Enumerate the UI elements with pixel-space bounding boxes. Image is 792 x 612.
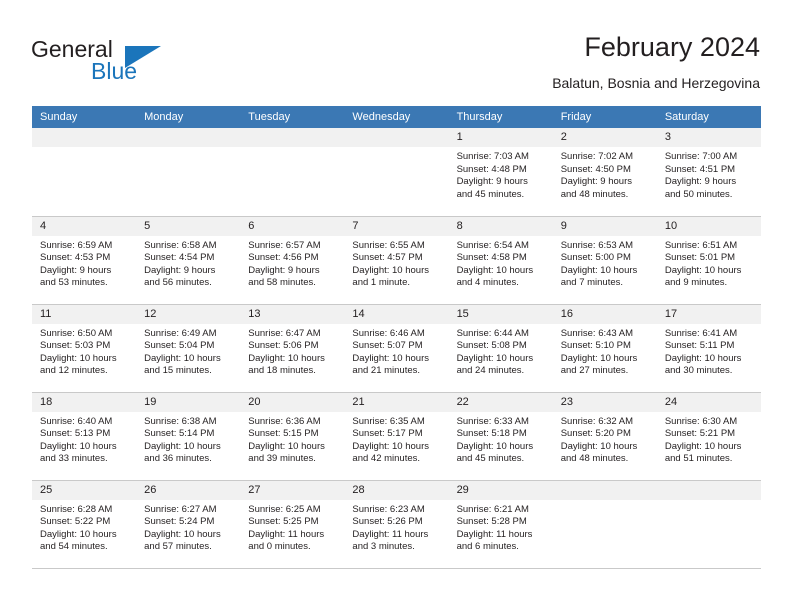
sunset-text: Sunset: 5:17 PM	[352, 428, 442, 441]
calendar-day-cell[interactable]: 17Sunrise: 6:41 AMSunset: 5:11 PMDayligh…	[657, 304, 761, 392]
day-number: 7	[344, 217, 448, 236]
daylight-text-line1: Daylight: 10 hours	[561, 265, 651, 278]
daylight-text-line2: and 54 minutes.	[40, 541, 130, 554]
sunset-text: Sunset: 5:10 PM	[561, 340, 651, 353]
day-number	[32, 128, 136, 147]
day-number: 12	[136, 305, 240, 324]
sunset-text: Sunset: 5:04 PM	[144, 340, 234, 353]
sunset-text: Sunset: 5:28 PM	[457, 516, 547, 529]
day-number	[344, 128, 448, 147]
day-details: Sunrise: 6:46 AMSunset: 5:07 PMDaylight:…	[344, 324, 448, 378]
day-details: Sunrise: 6:59 AMSunset: 4:53 PMDaylight:…	[32, 236, 136, 290]
day-number	[136, 128, 240, 147]
day-details: Sunrise: 6:25 AMSunset: 5:25 PMDaylight:…	[240, 500, 344, 554]
day-details: Sunrise: 6:54 AMSunset: 4:58 PMDaylight:…	[449, 236, 553, 290]
day-number: 29	[449, 481, 553, 500]
day-details: Sunrise: 6:33 AMSunset: 5:18 PMDaylight:…	[449, 412, 553, 466]
day-number: 17	[657, 305, 761, 324]
daylight-text-line1: Daylight: 10 hours	[144, 441, 234, 454]
sunrise-text: Sunrise: 6:32 AM	[561, 416, 651, 429]
day-details: Sunrise: 6:21 AMSunset: 5:28 PMDaylight:…	[449, 500, 553, 554]
daylight-text-line2: and 33 minutes.	[40, 453, 130, 466]
daylight-text-line2: and 58 minutes.	[248, 277, 338, 290]
calendar-day-cell[interactable]: 19Sunrise: 6:38 AMSunset: 5:14 PMDayligh…	[136, 392, 240, 480]
weekday-header-row: Sunday Monday Tuesday Wednesday Thursday…	[32, 106, 761, 128]
daylight-text-line2: and 53 minutes.	[40, 277, 130, 290]
daylight-text-line2: and 36 minutes.	[144, 453, 234, 466]
sunset-text: Sunset: 5:26 PM	[352, 516, 442, 529]
title-block: February 2024 Balatun, Bosnia and Herzeg…	[552, 30, 760, 92]
day-details: Sunrise: 6:32 AMSunset: 5:20 PMDaylight:…	[553, 412, 657, 466]
calendar-day-cell[interactable]: 11Sunrise: 6:50 AMSunset: 5:03 PMDayligh…	[32, 304, 136, 392]
daylight-text-line2: and 7 minutes.	[561, 277, 651, 290]
day-details: Sunrise: 6:44 AMSunset: 5:08 PMDaylight:…	[449, 324, 553, 378]
page-header: General Blue February 2024 Balatun, Bosn…	[0, 0, 792, 100]
calendar-day-cell[interactable]: 3Sunrise: 7:00 AMSunset: 4:51 PMDaylight…	[657, 128, 761, 216]
calendar-week-row: 11Sunrise: 6:50 AMSunset: 5:03 PMDayligh…	[32, 304, 761, 392]
day-details: Sunrise: 6:58 AMSunset: 4:54 PMDaylight:…	[136, 236, 240, 290]
sunset-text: Sunset: 4:56 PM	[248, 252, 338, 265]
day-number: 28	[344, 481, 448, 500]
daylight-text-line2: and 9 minutes.	[665, 277, 755, 290]
daylight-text-line2: and 6 minutes.	[457, 541, 547, 554]
sunrise-text: Sunrise: 6:47 AM	[248, 328, 338, 341]
day-number: 27	[240, 481, 344, 500]
day-number: 21	[344, 393, 448, 412]
day-details: Sunrise: 7:03 AMSunset: 4:48 PMDaylight:…	[449, 147, 553, 201]
sunset-text: Sunset: 4:58 PM	[457, 252, 547, 265]
calendar-day-cell[interactable]: 6Sunrise: 6:57 AMSunset: 4:56 PMDaylight…	[240, 216, 344, 304]
day-details: Sunrise: 6:51 AMSunset: 5:01 PMDaylight:…	[657, 236, 761, 290]
sunrise-text: Sunrise: 6:30 AM	[665, 416, 755, 429]
day-number: 18	[32, 393, 136, 412]
daylight-text-line1: Daylight: 10 hours	[40, 353, 130, 366]
day-number	[240, 128, 344, 147]
day-details: Sunrise: 7:00 AMSunset: 4:51 PMDaylight:…	[657, 147, 761, 201]
day-number: 23	[553, 393, 657, 412]
daylight-text-line2: and 57 minutes.	[144, 541, 234, 554]
calendar-day-cell[interactable]: 22Sunrise: 6:33 AMSunset: 5:18 PMDayligh…	[449, 392, 553, 480]
daylight-text-line2: and 30 minutes.	[665, 365, 755, 378]
daylight-text-line1: Daylight: 9 hours	[144, 265, 234, 278]
day-details: Sunrise: 6:47 AMSunset: 5:06 PMDaylight:…	[240, 324, 344, 378]
sunrise-text: Sunrise: 6:25 AM	[248, 504, 338, 517]
day-details: Sunrise: 7:02 AMSunset: 4:50 PMDaylight:…	[553, 147, 657, 201]
sunset-text: Sunset: 4:48 PM	[457, 164, 547, 177]
sunrise-text: Sunrise: 6:38 AM	[144, 416, 234, 429]
day-details: Sunrise: 6:50 AMSunset: 5:03 PMDaylight:…	[32, 324, 136, 378]
day-number: 11	[32, 305, 136, 324]
daylight-text-line2: and 39 minutes.	[248, 453, 338, 466]
sunset-text: Sunset: 5:00 PM	[561, 252, 651, 265]
daylight-text-line1: Daylight: 10 hours	[352, 353, 442, 366]
sunset-text: Sunset: 5:18 PM	[457, 428, 547, 441]
sunrise-text: Sunrise: 6:51 AM	[665, 240, 755, 253]
calendar-day-cell[interactable]: 24Sunrise: 6:30 AMSunset: 5:21 PMDayligh…	[657, 392, 761, 480]
daylight-text-line1: Daylight: 10 hours	[665, 441, 755, 454]
daylight-text-line2: and 50 minutes.	[665, 189, 755, 202]
daylight-text-line1: Daylight: 9 hours	[665, 176, 755, 189]
calendar-cell-empty	[553, 480, 657, 568]
calendar-day-cell[interactable]: 2Sunrise: 7:02 AMSunset: 4:50 PMDaylight…	[553, 128, 657, 216]
daylight-text-line2: and 45 minutes.	[457, 189, 547, 202]
calendar-day-cell[interactable]: 13Sunrise: 6:47 AMSunset: 5:06 PMDayligh…	[240, 304, 344, 392]
daylight-text-line2: and 48 minutes.	[561, 189, 651, 202]
weekday-header-sunday: Sunday	[32, 106, 136, 128]
day-number: 6	[240, 217, 344, 236]
calendar-day-cell[interactable]: 21Sunrise: 6:35 AMSunset: 5:17 PMDayligh…	[344, 392, 448, 480]
page-subtitle: Balatun, Bosnia and Herzegovina	[552, 74, 760, 92]
sunrise-text: Sunrise: 6:59 AM	[40, 240, 130, 253]
day-details: Sunrise: 6:55 AMSunset: 4:57 PMDaylight:…	[344, 236, 448, 290]
sunrise-text: Sunrise: 6:55 AM	[352, 240, 442, 253]
sunset-text: Sunset: 5:24 PM	[144, 516, 234, 529]
daylight-text-line1: Daylight: 10 hours	[248, 353, 338, 366]
sunset-text: Sunset: 5:07 PM	[352, 340, 442, 353]
calendar-day-cell[interactable]: 7Sunrise: 6:55 AMSunset: 4:57 PMDaylight…	[344, 216, 448, 304]
sunrise-text: Sunrise: 6:35 AM	[352, 416, 442, 429]
day-details: Sunrise: 6:30 AMSunset: 5:21 PMDaylight:…	[657, 412, 761, 466]
day-number: 14	[344, 305, 448, 324]
calendar-day-cell[interactable]: 8Sunrise: 6:54 AMSunset: 4:58 PMDaylight…	[449, 216, 553, 304]
sunset-text: Sunset: 5:22 PM	[40, 516, 130, 529]
sunrise-text: Sunrise: 6:58 AM	[144, 240, 234, 253]
calendar-day-cell[interactable]: 18Sunrise: 6:40 AMSunset: 5:13 PMDayligh…	[32, 392, 136, 480]
sunset-text: Sunset: 5:06 PM	[248, 340, 338, 353]
sunrise-text: Sunrise: 6:40 AM	[40, 416, 130, 429]
daylight-text-line1: Daylight: 10 hours	[561, 441, 651, 454]
day-number: 16	[553, 305, 657, 324]
daylight-text-line1: Daylight: 10 hours	[352, 265, 442, 278]
sunrise-text: Sunrise: 6:44 AM	[457, 328, 547, 341]
sunset-text: Sunset: 5:15 PM	[248, 428, 338, 441]
sunset-text: Sunset: 4:51 PM	[665, 164, 755, 177]
calendar-day-cell[interactable]: 1Sunrise: 7:03 AMSunset: 4:48 PMDaylight…	[449, 128, 553, 216]
calendar-day-cell[interactable]: 10Sunrise: 6:51 AMSunset: 5:01 PMDayligh…	[657, 216, 761, 304]
sunrise-text: Sunrise: 6:41 AM	[665, 328, 755, 341]
day-details: Sunrise: 6:57 AMSunset: 4:56 PMDaylight:…	[240, 236, 344, 290]
day-number: 2	[553, 128, 657, 147]
calendar-day-cell[interactable]: 23Sunrise: 6:32 AMSunset: 5:20 PMDayligh…	[553, 392, 657, 480]
daylight-text-line1: Daylight: 11 hours	[457, 529, 547, 542]
calendar-cell-empty	[136, 128, 240, 216]
sunrise-text: Sunrise: 7:02 AM	[561, 151, 651, 164]
daylight-text-line1: Daylight: 10 hours	[248, 441, 338, 454]
calendar-grid: Sunday Monday Tuesday Wednesday Thursday…	[32, 106, 761, 569]
sunrise-text: Sunrise: 6:57 AM	[248, 240, 338, 253]
sunrise-text: Sunrise: 6:28 AM	[40, 504, 130, 517]
sunset-text: Sunset: 5:14 PM	[144, 428, 234, 441]
calendar-day-cell[interactable]: 15Sunrise: 6:44 AMSunset: 5:08 PMDayligh…	[449, 304, 553, 392]
calendar-day-cell[interactable]: 4Sunrise: 6:59 AMSunset: 4:53 PMDaylight…	[32, 216, 136, 304]
general-blue-logo[interactable]: General Blue	[31, 36, 181, 88]
daylight-text-line2: and 4 minutes.	[457, 277, 547, 290]
sunrise-text: Sunrise: 7:03 AM	[457, 151, 547, 164]
day-details: Sunrise: 6:49 AMSunset: 5:04 PMDaylight:…	[136, 324, 240, 378]
day-number: 5	[136, 217, 240, 236]
sunset-text: Sunset: 5:03 PM	[40, 340, 130, 353]
day-number: 1	[449, 128, 553, 147]
day-number: 20	[240, 393, 344, 412]
calendar-week-row: 18Sunrise: 6:40 AMSunset: 5:13 PMDayligh…	[32, 392, 761, 480]
day-details: Sunrise: 6:27 AMSunset: 5:24 PMDaylight:…	[136, 500, 240, 554]
sunrise-text: Sunrise: 6:49 AM	[144, 328, 234, 341]
weekday-header-friday: Friday	[553, 106, 657, 128]
daylight-text-line1: Daylight: 10 hours	[457, 441, 547, 454]
sunset-text: Sunset: 5:11 PM	[665, 340, 755, 353]
calendar-day-cell[interactable]: 9Sunrise: 6:53 AMSunset: 5:00 PMDaylight…	[553, 216, 657, 304]
daylight-text-line1: Daylight: 10 hours	[352, 441, 442, 454]
sunset-text: Sunset: 5:20 PM	[561, 428, 651, 441]
day-details: Sunrise: 6:40 AMSunset: 5:13 PMDaylight:…	[32, 412, 136, 466]
day-number: 26	[136, 481, 240, 500]
daylight-text-line1: Daylight: 10 hours	[144, 529, 234, 542]
day-number: 9	[553, 217, 657, 236]
sunset-text: Sunset: 4:57 PM	[352, 252, 442, 265]
sunset-text: Sunset: 4:53 PM	[40, 252, 130, 265]
weekday-header-thursday: Thursday	[449, 106, 553, 128]
calendar-day-cell[interactable]: 25Sunrise: 6:28 AMSunset: 5:22 PMDayligh…	[32, 480, 136, 568]
daylight-text-line1: Daylight: 9 hours	[248, 265, 338, 278]
daylight-text-line1: Daylight: 9 hours	[457, 176, 547, 189]
calendar-day-cell[interactable]: 16Sunrise: 6:43 AMSunset: 5:10 PMDayligh…	[553, 304, 657, 392]
day-details: Sunrise: 6:41 AMSunset: 5:11 PMDaylight:…	[657, 324, 761, 378]
day-number: 8	[449, 217, 553, 236]
daylight-text-line1: Daylight: 11 hours	[248, 529, 338, 542]
sunset-text: Sunset: 5:13 PM	[40, 428, 130, 441]
daylight-text-line2: and 27 minutes.	[561, 365, 651, 378]
daylight-text-line1: Daylight: 10 hours	[665, 353, 755, 366]
sunrise-text: Sunrise: 6:46 AM	[352, 328, 442, 341]
calendar-week-row: 4Sunrise: 6:59 AMSunset: 4:53 PMDaylight…	[32, 216, 761, 304]
calendar-day-cell[interactable]: 20Sunrise: 6:36 AMSunset: 5:15 PMDayligh…	[240, 392, 344, 480]
sunrise-text: Sunrise: 6:23 AM	[352, 504, 442, 517]
calendar-day-cell[interactable]: 14Sunrise: 6:46 AMSunset: 5:07 PMDayligh…	[344, 304, 448, 392]
daylight-text-line2: and 48 minutes.	[561, 453, 651, 466]
sunset-text: Sunset: 5:01 PM	[665, 252, 755, 265]
daylight-text-line2: and 15 minutes.	[144, 365, 234, 378]
calendar-cell-empty	[32, 128, 136, 216]
daylight-text-line1: Daylight: 9 hours	[561, 176, 651, 189]
calendar-day-cell[interactable]: 12Sunrise: 6:49 AMSunset: 5:04 PMDayligh…	[136, 304, 240, 392]
day-details: Sunrise: 6:23 AMSunset: 5:26 PMDaylight:…	[344, 500, 448, 554]
sunrise-text: Sunrise: 6:21 AM	[457, 504, 547, 517]
daylight-text-line2: and 0 minutes.	[248, 541, 338, 554]
sunrise-text: Sunrise: 7:00 AM	[665, 151, 755, 164]
daylight-text-line1: Daylight: 10 hours	[144, 353, 234, 366]
daylight-text-line2: and 1 minute.	[352, 277, 442, 290]
calendar-week-row: 1Sunrise: 7:03 AMSunset: 4:48 PMDaylight…	[32, 128, 761, 216]
daylight-text-line2: and 21 minutes.	[352, 365, 442, 378]
weekday-header-tuesday: Tuesday	[240, 106, 344, 128]
sunrise-text: Sunrise: 6:36 AM	[248, 416, 338, 429]
daylight-text-line1: Daylight: 10 hours	[457, 265, 547, 278]
day-details: Sunrise: 6:53 AMSunset: 5:00 PMDaylight:…	[553, 236, 657, 290]
daylight-text-line2: and 56 minutes.	[144, 277, 234, 290]
daylight-text-line2: and 18 minutes.	[248, 365, 338, 378]
calendar-day-cell[interactable]: 26Sunrise: 6:27 AMSunset: 5:24 PMDayligh…	[136, 480, 240, 568]
day-number: 13	[240, 305, 344, 324]
daylight-text-line2: and 42 minutes.	[352, 453, 442, 466]
daylight-text-line1: Daylight: 10 hours	[561, 353, 651, 366]
calendar-day-cell[interactable]: 27Sunrise: 6:25 AMSunset: 5:25 PMDayligh…	[240, 480, 344, 568]
daylight-text-line2: and 51 minutes.	[665, 453, 755, 466]
day-number: 24	[657, 393, 761, 412]
daylight-text-line1: Daylight: 10 hours	[457, 353, 547, 366]
day-number: 19	[136, 393, 240, 412]
sunset-text: Sunset: 5:08 PM	[457, 340, 547, 353]
calendar-body: 1Sunrise: 7:03 AMSunset: 4:48 PMDaylight…	[32, 128, 761, 568]
daylight-text-line2: and 24 minutes.	[457, 365, 547, 378]
day-number: 10	[657, 217, 761, 236]
daylight-text-line2: and 12 minutes.	[40, 365, 130, 378]
day-details: Sunrise: 6:43 AMSunset: 5:10 PMDaylight:…	[553, 324, 657, 378]
sunset-text: Sunset: 5:21 PM	[665, 428, 755, 441]
page-title: February 2024	[552, 30, 760, 64]
day-number	[553, 481, 657, 500]
calendar-cell-empty	[240, 128, 344, 216]
daylight-text-line1: Daylight: 11 hours	[352, 529, 442, 542]
weekday-header-monday: Monday	[136, 106, 240, 128]
sunrise-text: Sunrise: 6:53 AM	[561, 240, 651, 253]
calendar-cell-empty	[657, 480, 761, 568]
day-number: 25	[32, 481, 136, 500]
calendar-day-cell[interactable]: 28Sunrise: 6:23 AMSunset: 5:26 PMDayligh…	[344, 480, 448, 568]
day-details: Sunrise: 6:35 AMSunset: 5:17 PMDaylight:…	[344, 412, 448, 466]
day-number: 4	[32, 217, 136, 236]
calendar-cell-empty	[344, 128, 448, 216]
day-details: Sunrise: 6:38 AMSunset: 5:14 PMDaylight:…	[136, 412, 240, 466]
daylight-text-line1: Daylight: 10 hours	[40, 441, 130, 454]
daylight-text-line2: and 3 minutes.	[352, 541, 442, 554]
day-number: 15	[449, 305, 553, 324]
sunset-text: Sunset: 4:54 PM	[144, 252, 234, 265]
sunset-text: Sunset: 4:50 PM	[561, 164, 651, 177]
logo-text-blue: Blue	[91, 58, 137, 85]
sunrise-text: Sunrise: 6:43 AM	[561, 328, 651, 341]
sunrise-text: Sunrise: 6:27 AM	[144, 504, 234, 517]
day-number	[657, 481, 761, 500]
sunrise-text: Sunrise: 6:54 AM	[457, 240, 547, 253]
sunrise-text: Sunrise: 6:33 AM	[457, 416, 547, 429]
day-number: 3	[657, 128, 761, 147]
daylight-text-line1: Daylight: 10 hours	[665, 265, 755, 278]
sunrise-text: Sunrise: 6:50 AM	[40, 328, 130, 341]
daylight-text-line1: Daylight: 9 hours	[40, 265, 130, 278]
daylight-text-line1: Daylight: 10 hours	[40, 529, 130, 542]
day-details: Sunrise: 6:28 AMSunset: 5:22 PMDaylight:…	[32, 500, 136, 554]
calendar-week-row: 25Sunrise: 6:28 AMSunset: 5:22 PMDayligh…	[32, 480, 761, 568]
weekday-header-wednesday: Wednesday	[344, 106, 448, 128]
calendar-day-cell[interactable]: 5Sunrise: 6:58 AMSunset: 4:54 PMDaylight…	[136, 216, 240, 304]
calendar-page: General Blue February 2024 Balatun, Bosn…	[0, 0, 792, 612]
calendar-day-cell[interactable]: 29Sunrise: 6:21 AMSunset: 5:28 PMDayligh…	[449, 480, 553, 568]
daylight-text-line2: and 45 minutes.	[457, 453, 547, 466]
sunset-text: Sunset: 5:25 PM	[248, 516, 338, 529]
weekday-header-saturday: Saturday	[657, 106, 761, 128]
day-details: Sunrise: 6:36 AMSunset: 5:15 PMDaylight:…	[240, 412, 344, 466]
day-number: 22	[449, 393, 553, 412]
